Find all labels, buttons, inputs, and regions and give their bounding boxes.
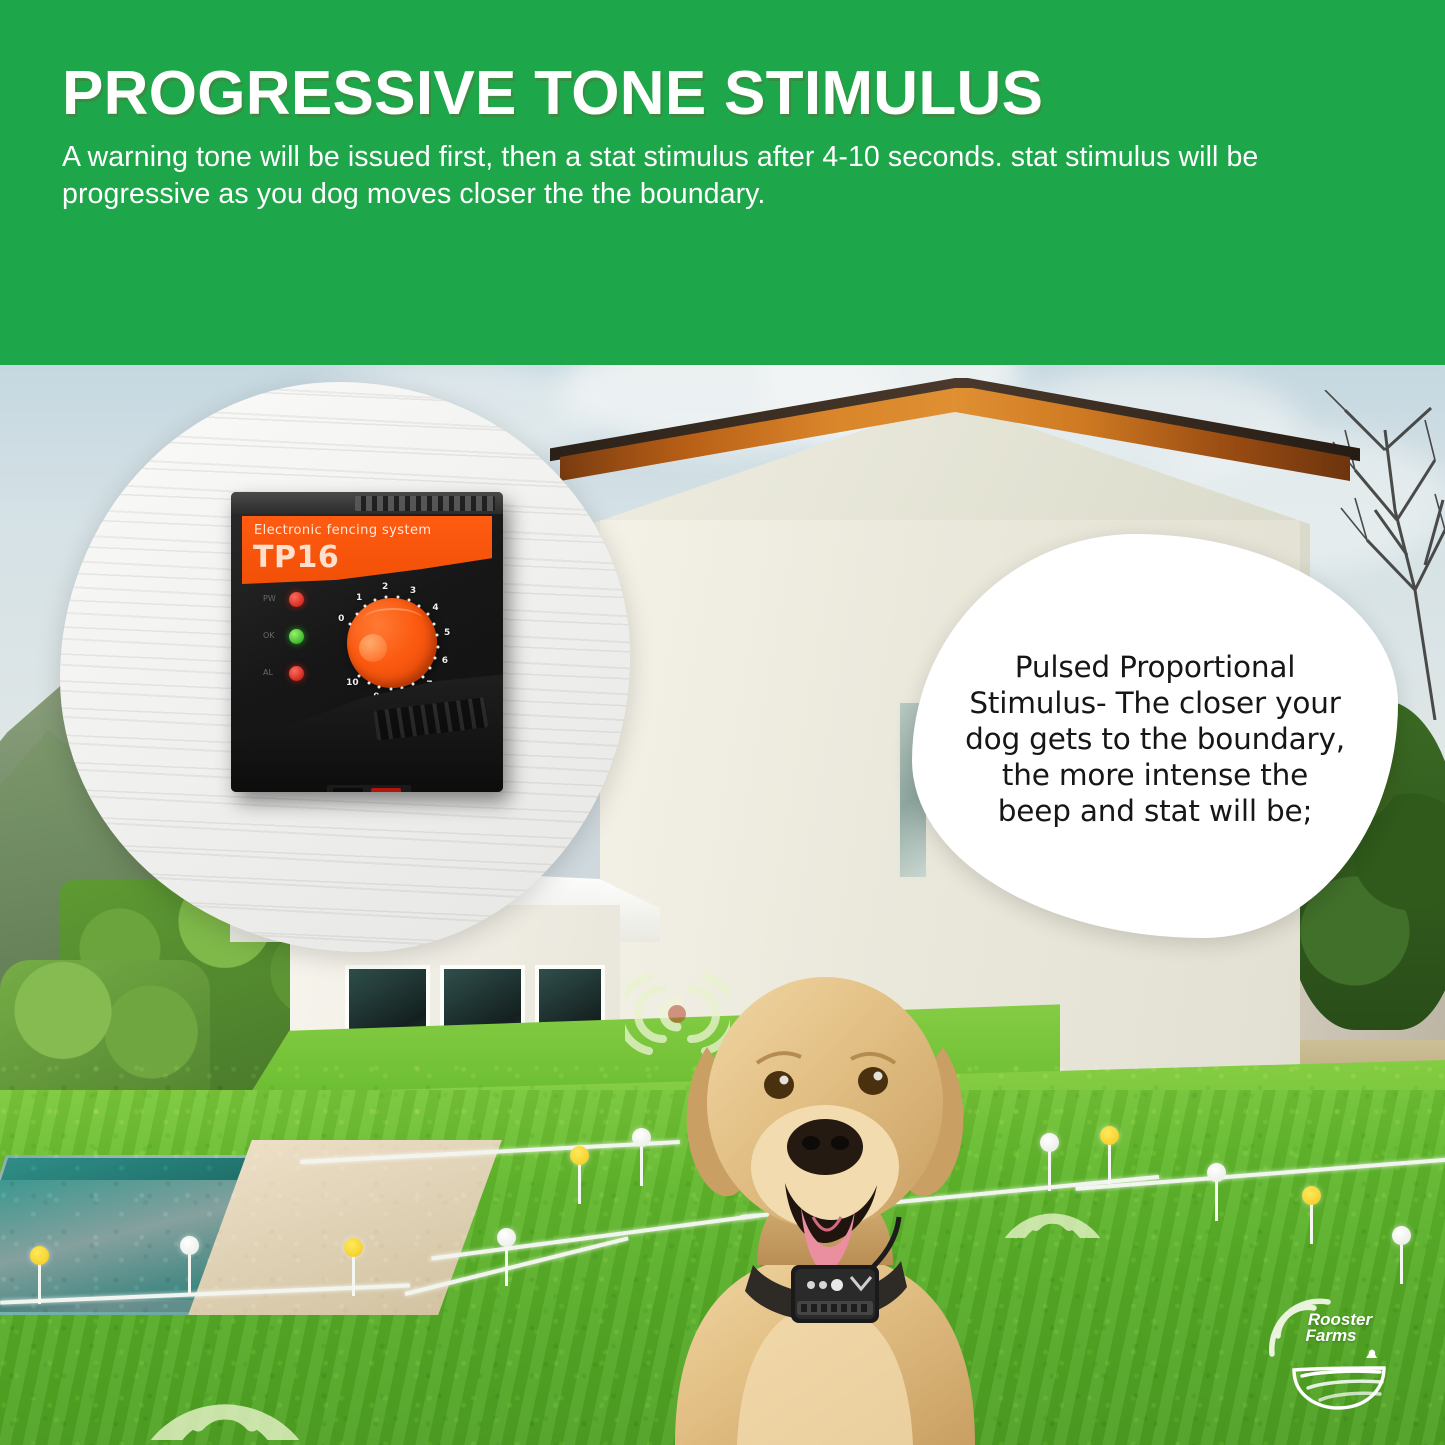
power-led [289,592,304,607]
signal-wave-icon [1000,1168,1105,1238]
dial-tick-dot [426,613,429,616]
dial-tick-label: 0 [338,614,344,624]
dial-tick-label: 5 [444,628,450,638]
dial-tick-label: 2 [382,582,388,592]
dial-tick-label: 1 [356,593,362,603]
status-led-label: OK [263,631,275,640]
dial-tick-label: 4 [432,603,438,613]
alarm-led [289,666,304,681]
device-grill-icon [374,697,489,740]
dial-tick-dot [412,682,415,685]
boundary-flag-icon [1310,1198,1313,1244]
boundary-flag-icon [640,1140,643,1186]
device-side-tab [231,634,232,660]
dial-tick-dot [367,681,370,684]
boundary-flag-icon [1215,1175,1218,1221]
device-brand-line: Electronic fencing system [254,523,431,538]
labrador-dog-with-collar [645,935,1005,1445]
boundary-flag-icon [38,1258,41,1304]
speech-bubble: Pulsed Proportional Stimulus- The closer… [912,534,1398,938]
page-subtitle: A warning tone will be issued first, the… [62,139,1382,213]
poster-stage: PROGRESSIVE TONE STIMULUS A warning tone… [0,0,1445,1445]
dial-tick-dot [374,599,377,602]
device-top-cap [231,492,503,514]
dial-tick-dot [418,605,421,608]
status-led [289,629,304,644]
dial-tick-dot [389,687,392,690]
dial-tick-dot [378,686,381,689]
header-wave-divider [0,255,1445,365]
device-model-name: TP16 [253,540,339,575]
dial-tick-dot [436,645,439,648]
dial-tick-label: 3 [410,586,416,596]
signal-wave-icon [140,1332,310,1440]
page-title: PROGRESSIVE TONE STIMULUS [62,62,1387,125]
header-content: PROGRESSIVE TONE STIMULUS A warning tone… [0,0,1445,213]
dial-tick-dot [397,596,400,599]
speech-bubble-text: Pulsed Proportional Stimulus- The closer… [964,650,1346,830]
device-callout-bubble: Electronic fencing system TP16 PW OK AL … [60,382,630,952]
boundary-flag-icon [1400,1238,1403,1284]
alarm-led-label: AL [263,668,273,677]
dial-tick-dot [429,667,432,670]
terminal-red[interactable] [371,788,401,792]
dial-tick-dot [358,674,361,677]
dial-tick-dot [349,622,352,625]
brand-logo-text: Rooster Farms [1280,1312,1400,1344]
boundary-flag-icon [352,1250,355,1296]
boundary-flag-icon [1108,1138,1111,1184]
terminal-black[interactable] [333,788,363,792]
dial-tick-label: 6 [442,656,448,666]
brand-name-line2: Farms [1262,1328,1400,1344]
power-led-label: PW [263,594,276,603]
boundary-flag-icon [578,1158,581,1204]
led-indicator-group: PW OK AL [263,592,315,684]
device-brand-label: Electronic fencing system TP16 [242,516,492,584]
dial-tick-dot [421,676,424,679]
brand-logo[interactable]: Rooster Farms [1262,1296,1412,1414]
dial-tick-dot [363,604,366,607]
dial-tick-dot [355,612,358,615]
boundary-flag-icon [188,1248,191,1294]
boundary-flag-icon [505,1240,508,1286]
dial-tick-dot [408,599,411,602]
tp16-controller[interactable]: Electronic fencing system TP16 PW OK AL … [231,492,503,792]
dial-tick-dot [436,634,439,637]
vent-slots-icon [355,496,495,511]
terminal-block[interactable] [327,785,411,792]
dial-tick-dot [385,596,388,599]
dial-tick-dot [434,656,437,659]
dial-tick-dot [432,622,435,625]
dial-tick-label: 10 [346,678,359,688]
